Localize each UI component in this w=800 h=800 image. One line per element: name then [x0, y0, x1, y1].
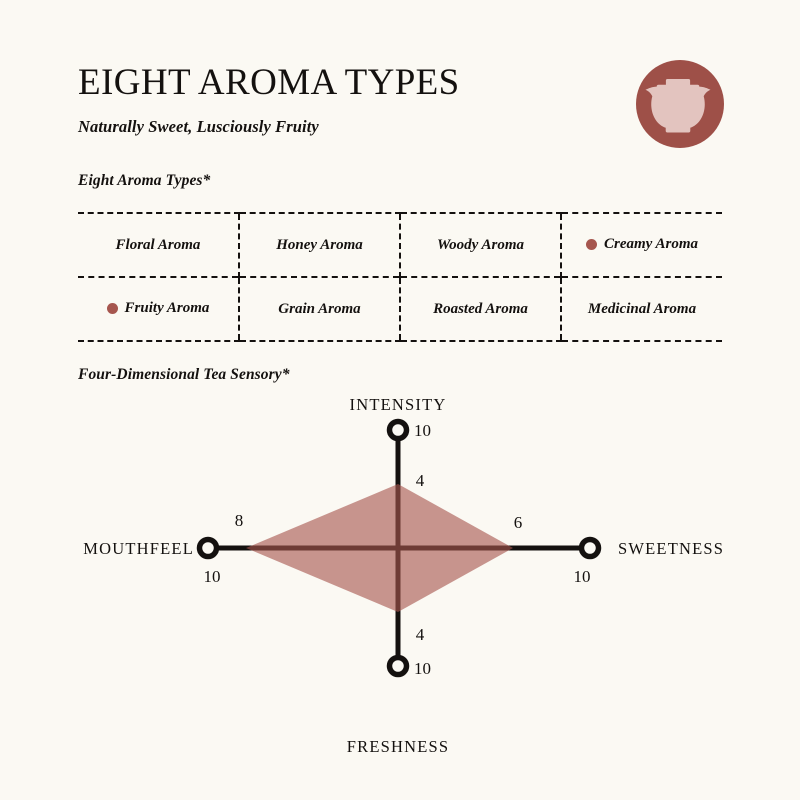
- aroma-cell-grain[interactable]: Grain Aroma: [239, 277, 400, 341]
- aroma-cell-honey[interactable]: Honey Aroma: [239, 213, 400, 277]
- aroma-cell-fruity[interactable]: Fruity Aroma: [78, 277, 239, 341]
- axis-endpoint-mouthfeel[interactable]: [200, 540, 217, 557]
- brand-logo: [636, 60, 724, 148]
- axis-value-mouthfeel: 8: [235, 511, 244, 530]
- aroma-cell-woody[interactable]: Woody Aroma: [400, 213, 561, 277]
- axis-value-sweetness: 6: [514, 513, 523, 532]
- aroma-cell-roasted[interactable]: Roasted Aroma: [400, 277, 561, 341]
- aroma-cell-creamy[interactable]: Creamy Aroma: [561, 213, 722, 277]
- axis-label-freshness: FRESHNESS: [347, 737, 450, 756]
- axis-max-freshness: 10: [414, 659, 431, 678]
- axis-endpoint-freshness[interactable]: [390, 658, 407, 675]
- aroma-label: Roasted Aroma: [433, 301, 528, 318]
- page-subtitle: Naturally Sweet, Lusciously Fruity: [78, 117, 722, 137]
- poster-page: EIGHT AROMA TYPES Naturally Sweet, Lusci…: [0, 0, 800, 800]
- axis-value-intensity: 4: [416, 471, 425, 490]
- aroma-label: Floral Aroma: [116, 237, 201, 254]
- teapot-icon: [636, 60, 724, 148]
- axis-label-intensity: INTENSITY: [350, 395, 447, 414]
- aroma-label: Medicinal Aroma: [588, 301, 696, 318]
- selected-dot-icon: [107, 303, 118, 314]
- page-title: EIGHT AROMA TYPES: [78, 64, 722, 103]
- aroma-label: Honey Aroma: [276, 237, 363, 254]
- axis-label-mouthfeel: MOUTHFEEL: [83, 539, 194, 558]
- aroma-label: Grain Aroma: [278, 301, 360, 318]
- axis-endpoint-intensity[interactable]: [390, 422, 407, 439]
- radar-svg: INTENSITY SWEETNESS FRESHNESS MOUTHFEEL …: [0, 392, 800, 772]
- table-row: Fruity Aroma Grain Aroma Roasted Aroma: [78, 277, 722, 341]
- axis-label-sweetness: SWEETNESS: [618, 539, 724, 558]
- aroma-label: Woody Aroma: [437, 237, 524, 254]
- aroma-cell-medicinal[interactable]: Medicinal Aroma: [561, 277, 722, 341]
- axis-max-mouthfeel: 10: [204, 567, 221, 586]
- axis-max-intensity: 10: [414, 421, 431, 440]
- header: EIGHT AROMA TYPES Naturally Sweet, Lusci…: [78, 64, 722, 137]
- axis-value-freshness: 4: [416, 625, 425, 644]
- selected-dot-icon: [586, 239, 597, 250]
- axis-endpoint-sweetness[interactable]: [582, 540, 599, 557]
- radar-polygon: [246, 484, 513, 612]
- table-row: Floral Aroma Honey Aroma Woody Aroma: [78, 213, 722, 277]
- axis-max-sweetness: 10: [574, 567, 591, 586]
- aroma-types-table: Floral Aroma Honey Aroma Woody Aroma: [78, 212, 722, 342]
- sensory-radar-chart: INTENSITY SWEETNESS FRESHNESS MOUTHFEEL …: [0, 392, 800, 772]
- aroma-section-caption: Eight Aroma Types*: [78, 172, 210, 190]
- aroma-label: Fruity Aroma: [125, 300, 210, 317]
- sensory-section-caption: Four-Dimensional Tea Sensory*: [78, 366, 290, 384]
- aroma-cell-floral[interactable]: Floral Aroma: [78, 213, 239, 277]
- aroma-label: Creamy Aroma: [604, 236, 698, 253]
